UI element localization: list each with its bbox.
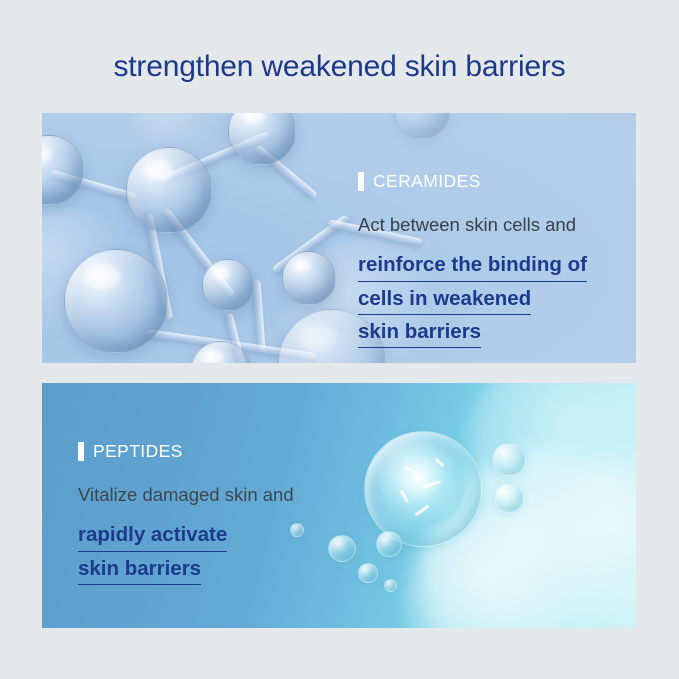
page-title: strengthen weakened skin barriers (0, 50, 679, 84)
molecule-node (282, 251, 336, 305)
satellite-bubble (384, 579, 397, 592)
molecule-node (126, 147, 212, 233)
molecule-node (228, 113, 296, 165)
peptides-label-text: PEPTIDES (93, 441, 183, 462)
ceramides-label-text: CERAMIDES (373, 171, 481, 192)
molecule-node (202, 259, 254, 311)
molecule-node (64, 249, 168, 353)
molecule-node (394, 113, 450, 139)
peptides-lead-text: Vitalize damaged skin and (78, 483, 368, 507)
ceramides-lead-text: Act between skin cells and (358, 213, 618, 237)
satellite-bubble (494, 483, 524, 513)
panel-peptides: PEPTIDES Vitalize damaged skin and rapid… (42, 383, 636, 628)
ceramides-emphasis-line: cells in weakened (358, 284, 531, 315)
ceramides-emphasis-line: reinforce the binding of (358, 250, 587, 281)
satellite-bubble (492, 443, 526, 476)
ceramides-emphasis: reinforce the binding of cells in weaken… (358, 250, 618, 347)
label-bar-icon (78, 442, 84, 461)
peptides-emphasis-line: skin barriers (78, 554, 201, 585)
ceramides-section-label: CERAMIDES (358, 171, 618, 192)
label-bar-icon (358, 172, 364, 191)
panel-ceramides: CERAMIDES Act between skin cells and rei… (42, 113, 636, 363)
molecule-node (42, 135, 84, 205)
ceramides-emphasis-line: skin barriers (358, 317, 481, 348)
peptides-copy: PEPTIDES Vitalize damaged skin and rapid… (78, 441, 368, 587)
satellite-bubble (376, 531, 402, 557)
molecule-bond (252, 279, 266, 351)
peptides-emphasis: rapidly activate skin barriers (78, 520, 368, 584)
ceramides-copy: CERAMIDES Act between skin cells and rei… (358, 171, 618, 350)
peptides-section-label: PEPTIDES (78, 441, 368, 462)
peptides-emphasis-line: rapidly activate (78, 520, 227, 551)
